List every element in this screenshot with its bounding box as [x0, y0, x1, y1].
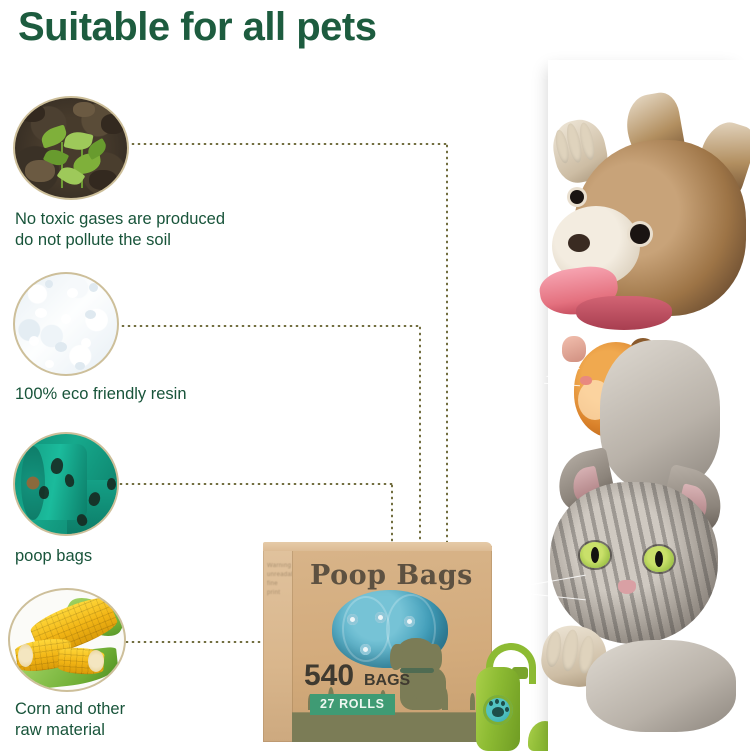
box-top-face — [263, 542, 492, 551]
feature-caption: Corn and other raw material — [15, 699, 265, 741]
french-bulldog-photo — [532, 84, 750, 334]
box-title: Poop Bags — [310, 560, 473, 591]
connector-line-1-vertical — [446, 143, 448, 548]
cat-body — [586, 640, 736, 732]
dog-mouth — [576, 296, 672, 330]
hamster-nose — [580, 376, 592, 385]
page-title: Suitable for all pets — [18, 6, 376, 48]
cat-eye — [644, 546, 674, 572]
hamster-paw — [562, 336, 586, 362]
feature-caption: poop bags — [15, 546, 265, 567]
feature-caption: 100% eco friendly resin — [15, 384, 265, 405]
tabby-kitten-photo — [540, 430, 750, 730]
box-front-face: Poop Bags 540 BAGS 27 ROLLS — [292, 546, 492, 742]
cat-eye — [580, 542, 610, 568]
corn-cobs-photo — [8, 588, 126, 692]
grass-blade — [442, 688, 448, 710]
paw-toe-icon — [505, 707, 509, 712]
paw-print-icon — [492, 707, 504, 717]
bag-hole-icon — [375, 612, 386, 623]
cat-face — [550, 482, 718, 644]
infographic-canvas: Suitable for all pets No toxic gases are… — [0, 0, 750, 751]
connector-line-3 — [100, 483, 393, 485]
bag-hole-icon — [347, 614, 358, 625]
cat-nose — [618, 580, 636, 594]
dog-nose — [568, 234, 590, 252]
dog-eye — [630, 224, 650, 244]
paw-toe-icon — [495, 699, 499, 704]
grass-blade — [412, 695, 417, 710]
teal-bag-roll-photo — [13, 432, 119, 536]
paw-toe-icon — [489, 701, 493, 706]
white-resin-pellets-photo — [13, 272, 119, 376]
feature-caption: No toxic gases are produced do not pollu… — [15, 209, 265, 251]
connector-line-2 — [108, 325, 420, 327]
rolls-badge: 27 ROLLS — [310, 694, 395, 715]
bag-hole-icon — [360, 644, 371, 655]
paw-toe-icon — [501, 701, 505, 706]
bag-count-unit: BAGS — [364, 672, 410, 690]
soil-seedlings-photo — [13, 96, 129, 200]
dog-ear-silhouette — [390, 644, 403, 670]
dispenser-window — [483, 695, 513, 725]
bag-hole-icon — [404, 616, 415, 627]
connector-line-1 — [130, 143, 448, 145]
dog-eye — [570, 190, 584, 204]
bag-count-number: 540 — [304, 659, 354, 693]
connector-line-2-vertical — [419, 325, 421, 548]
box-side-fine-print: Warning unreadable fine print — [267, 562, 291, 598]
